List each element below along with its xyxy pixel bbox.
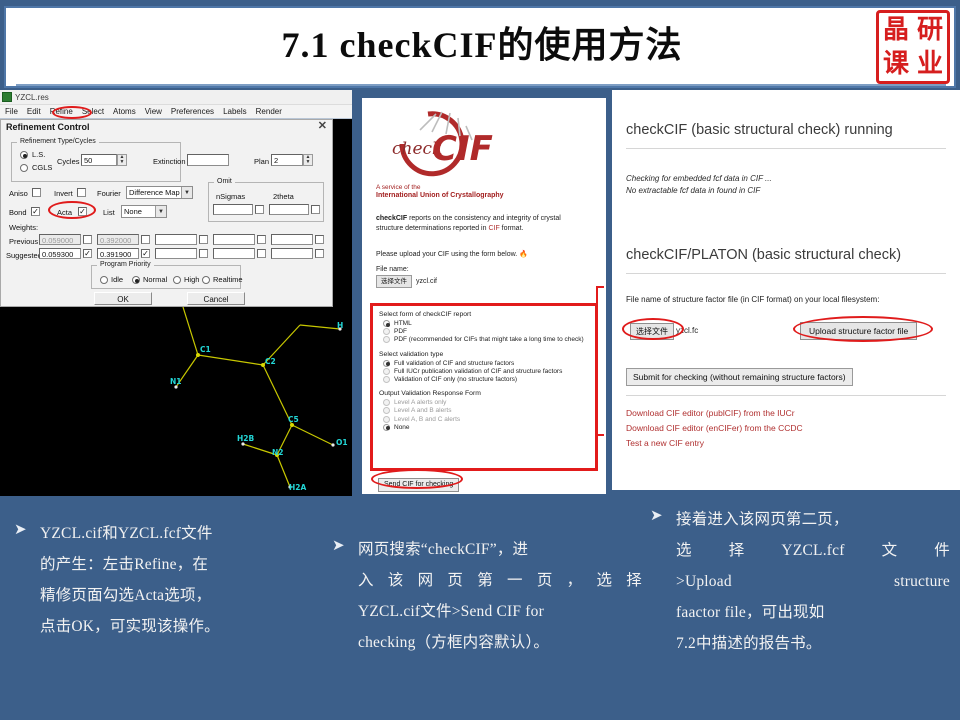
caption-line: 网页搜索“checkCIF”，进 bbox=[358, 534, 642, 565]
radio-icon[interactable] bbox=[383, 336, 390, 343]
refinement-type-legend: Refinement Type/Cycles bbox=[17, 138, 99, 145]
option-full-validation[interactable]: Full validation of CIF and structure fac… bbox=[383, 360, 595, 367]
response-form-heading: Output Validation Response Form bbox=[379, 390, 595, 397]
svg-text:H: H bbox=[337, 321, 343, 330]
title-divider bbox=[16, 84, 946, 86]
running-heading: checkCIF (basic structural check) runnin… bbox=[626, 122, 893, 138]
option-level-a[interactable]: Level A alerts only bbox=[383, 399, 595, 406]
label-fourier: Fourier bbox=[97, 189, 121, 198]
suggested-weight-2[interactable]: 0.391900 bbox=[97, 248, 139, 259]
close-icon[interactable]: ✕ bbox=[318, 121, 327, 132]
previous-check-2[interactable] bbox=[141, 235, 150, 244]
acta-checkbox[interactable]: ✓ bbox=[78, 207, 87, 216]
caption-2: ➤ 网页搜索“checkCIF”，进 入该网页第一页，选择 YZCL.cif文件… bbox=[332, 534, 642, 658]
service-line-1: A service of the bbox=[376, 184, 420, 191]
bullet-icon: ➤ bbox=[650, 506, 663, 525]
plan-input[interactable]: 2 bbox=[271, 154, 303, 166]
file-chooser-row: 选择文件 yzcl.cif bbox=[376, 275, 437, 288]
file-name-label: File name: bbox=[376, 265, 409, 275]
menu-preferences[interactable]: Preferences bbox=[171, 107, 214, 116]
platon-heading: checkCIF/PLATON (basic structural check) bbox=[626, 247, 901, 263]
caption-1: ➤ YZCL.cif和YZCL.fcf文件 的产生：左击Refine，在 精修页… bbox=[14, 518, 324, 642]
options-inner: Select form of checkCIF report HTML PDF … bbox=[379, 311, 595, 432]
svg-text:N1: N1 bbox=[170, 377, 182, 386]
label-weights: Weights: bbox=[9, 223, 38, 232]
previous-check-1[interactable] bbox=[83, 235, 92, 244]
shelxle-window: YZCL.res File Edit Refine Select Atoms V… bbox=[0, 90, 352, 496]
label-ls: L.S. bbox=[32, 150, 45, 159]
cancel-button[interactable]: Cancel bbox=[187, 292, 245, 305]
omit-group: Omit bbox=[208, 182, 324, 222]
invert-checkbox[interactable] bbox=[77, 188, 86, 197]
label-bond: Bond bbox=[9, 208, 27, 217]
option-cif-only[interactable]: Validation of CIF only (no structure fac… bbox=[383, 376, 595, 383]
fourier-select[interactable]: Difference Map ▼ bbox=[126, 186, 193, 199]
report-form-heading: Select form of checkCIF report bbox=[379, 311, 595, 318]
seal-char-3: 课 bbox=[879, 47, 913, 81]
checkcif-page2: checkCIF (basic structural check) runnin… bbox=[612, 90, 960, 490]
choose-file-button[interactable]: 选择文件 bbox=[630, 323, 674, 340]
extinction-input[interactable] bbox=[187, 154, 229, 166]
radio-icon[interactable] bbox=[383, 424, 390, 431]
previous-weight-3[interactable] bbox=[155, 234, 197, 245]
caption-line: 入该网页第一页，选择 bbox=[358, 565, 642, 596]
radio-icon[interactable] bbox=[383, 320, 390, 327]
caption-line: YZCL.cif和YZCL.fcf文件 bbox=[40, 518, 324, 549]
option-label: Full validation of CIF and structure fac… bbox=[394, 360, 514, 367]
divider bbox=[626, 148, 946, 149]
dialog-title: Refinement Control ✕ bbox=[1, 120, 332, 136]
label-2theta: 2theta bbox=[273, 192, 294, 201]
label-list: List bbox=[103, 208, 115, 217]
priority-legend: Program Priority bbox=[97, 261, 154, 268]
structure-factor-label: File name of structure factor file (in C… bbox=[626, 295, 879, 304]
menu-edit[interactable]: Edit bbox=[27, 107, 41, 116]
option-pdf[interactable]: PDF bbox=[383, 328, 595, 335]
window-title: YZCL.res bbox=[15, 93, 49, 102]
previous-weight-1[interactable]: 0.059000 bbox=[39, 234, 81, 245]
2theta-checkbox[interactable] bbox=[311, 205, 320, 214]
caption-line: checking（方框内容默认）。 bbox=[358, 627, 642, 658]
test-new-cif-link[interactable]: Test a new CIF entry bbox=[626, 438, 704, 448]
chevron-down-icon[interactable]: ▼ bbox=[181, 187, 192, 198]
choose-file-button[interactable]: 选择文件 bbox=[376, 275, 412, 288]
radio-icon[interactable] bbox=[383, 399, 390, 406]
molecule-viewport[interactable]: C1 C2 N1 H C5 O1 N2 H2B H2A bbox=[0, 307, 352, 496]
menu-bar: File Edit Refine Select Atoms View Prefe… bbox=[0, 105, 352, 119]
menu-select[interactable]: Select bbox=[82, 107, 104, 116]
label-plan: Plan bbox=[254, 157, 269, 166]
caption-line: faactor file，可出现如 bbox=[676, 597, 950, 628]
label-suggested: Suggested bbox=[6, 251, 42, 260]
fourier-value: Difference Map bbox=[129, 188, 180, 197]
option-label: Level A, B and C alerts bbox=[394, 416, 460, 423]
option-label: None bbox=[394, 424, 410, 431]
caption-line: 选择YZCL.fcf文件 bbox=[676, 535, 950, 566]
previous-weight-5[interactable] bbox=[271, 234, 313, 245]
suggested-weight-3[interactable] bbox=[155, 248, 197, 259]
upload-note: Please upload your CIF using the form be… bbox=[376, 250, 588, 260]
checkcif-logo: check CIF bbox=[380, 104, 500, 178]
status-line-2: No extractable fcf data in found in CIF bbox=[626, 186, 760, 195]
publcif-download-link[interactable]: Download CIF editor (publCIF) from the I… bbox=[626, 408, 795, 418]
radio-icon[interactable] bbox=[383, 360, 390, 367]
encifer-download-link[interactable]: Download CIF editor (enCIFer) from the C… bbox=[626, 423, 803, 433]
upload-structure-factor-button[interactable]: Upload structure factor file bbox=[800, 322, 917, 340]
option-pdf-long[interactable]: PDF (recommended for CIFs that might tak… bbox=[383, 336, 595, 343]
menu-atoms[interactable]: Atoms bbox=[113, 107, 136, 116]
label-idle: Idle bbox=[111, 275, 123, 284]
suggested-check-4[interactable] bbox=[257, 249, 266, 258]
radio-cgls[interactable] bbox=[20, 164, 28, 172]
screenshot-row: YZCL.res File Edit Refine Select Atoms V… bbox=[0, 90, 960, 496]
label-extinction: Extinction bbox=[153, 157, 186, 166]
label-aniso: Aniso bbox=[9, 189, 28, 198]
svg-text:H2A: H2A bbox=[289, 483, 306, 492]
aniso-checkbox[interactable] bbox=[32, 188, 41, 197]
window-titlebar: YZCL.res bbox=[0, 90, 352, 105]
title-frame: 7.1 checkCIF的使用方法 bbox=[4, 6, 956, 88]
suggested-weight-4[interactable] bbox=[213, 248, 255, 259]
svg-text:CIF: CIF bbox=[432, 129, 493, 169]
divider bbox=[626, 395, 946, 396]
menu-file[interactable]: File bbox=[5, 107, 18, 116]
seal-char-4: 业 bbox=[913, 47, 947, 81]
radio-icon[interactable] bbox=[383, 328, 390, 335]
option-level-abc[interactable]: Level A, B and C alerts bbox=[383, 416, 595, 423]
radio-realtime[interactable] bbox=[202, 276, 210, 284]
radio-normal[interactable] bbox=[132, 276, 140, 284]
send-cif-button[interactable]: Send CIF for checking bbox=[378, 478, 459, 492]
label-cycles: Cycles bbox=[57, 157, 80, 166]
chosen-file-name: yzcl.fc bbox=[676, 326, 698, 335]
label-realtime: Realtime bbox=[213, 275, 243, 284]
label-previous: Previous bbox=[9, 237, 38, 246]
svg-text:C5: C5 bbox=[288, 415, 299, 424]
menu-refine[interactable]: Refine bbox=[50, 107, 73, 116]
refinement-control-dialog: Refinement Control ✕ Refinement Type/Cyc… bbox=[0, 119, 333, 307]
chosen-file-name: yzcl.cif bbox=[416, 278, 437, 285]
chevron-down-icon[interactable]: ▼ bbox=[155, 206, 166, 217]
previous-weight-4[interactable] bbox=[213, 234, 255, 245]
dialog-title-text: Refinement Control bbox=[6, 122, 90, 132]
suggested-weight-5[interactable] bbox=[271, 248, 313, 259]
option-label: Level A alerts only bbox=[394, 399, 446, 406]
ok-button[interactable]: OK bbox=[94, 292, 152, 305]
omit-legend: Omit bbox=[214, 178, 235, 185]
radio-idle[interactable] bbox=[100, 276, 108, 284]
slide-root: 7.1 checkCIF的使用方法 晶 研 课 业 YZCL.res File … bbox=[0, 0, 960, 720]
option-level-ab[interactable]: Level A and B alerts bbox=[383, 407, 595, 414]
option-none[interactable]: None bbox=[383, 424, 595, 431]
menu-render[interactable]: Render bbox=[256, 107, 282, 116]
caption-line: 点击OK，可实现该操作。 bbox=[40, 611, 324, 642]
label-acta: Acta bbox=[57, 208, 72, 217]
radio-icon[interactable] bbox=[383, 376, 390, 383]
svg-text:C2: C2 bbox=[265, 357, 276, 366]
caption-3-body: 接着进入该网页第二页， 选择YZCL.fcf文件 >Upload structu… bbox=[676, 504, 950, 659]
option-label: PDF bbox=[394, 328, 407, 335]
previous-check-3[interactable] bbox=[199, 235, 208, 244]
menu-view[interactable]: View bbox=[145, 107, 162, 116]
previous-weight-2[interactable]: 0.392000 bbox=[97, 234, 139, 245]
intro-bold: checkCIF bbox=[376, 215, 407, 222]
bullet-icon: ➤ bbox=[332, 536, 345, 555]
previous-check-5[interactable] bbox=[315, 235, 324, 244]
checkcif-options-box: Select form of checkCIF report HTML PDF … bbox=[370, 303, 598, 471]
caption-1-body: YZCL.cif和YZCL.fcf文件 的产生：左击Refine，在 精修页面勾… bbox=[40, 518, 324, 642]
label-nsigmas: nSigmas bbox=[216, 192, 245, 201]
caption-line: >Upload structure bbox=[676, 566, 950, 597]
checkcif-page1: check CIF A service of the International… bbox=[362, 98, 606, 494]
caption-line: 的产生：左击Refine，在 bbox=[40, 549, 324, 580]
radio-icon[interactable] bbox=[383, 407, 390, 414]
caption-line: 精修页面勾选Acta选项， bbox=[40, 580, 324, 611]
option-label: Validation of CIF only (no structure fac… bbox=[394, 376, 517, 383]
cycles-input[interactable]: 50 bbox=[81, 154, 117, 166]
option-html[interactable]: HTML bbox=[383, 320, 595, 327]
suggested-check-2[interactable]: ✓ bbox=[141, 249, 150, 258]
caption-line: 接着进入该网页第二页， bbox=[676, 504, 950, 535]
caption-line: 7.2中描述的报告书。 bbox=[676, 628, 950, 659]
submit-for-checking-button[interactable]: Submit for checking (without remaining s… bbox=[626, 368, 853, 386]
label-cgls: CGLS bbox=[32, 163, 52, 172]
label-high: High bbox=[184, 275, 199, 284]
list-select[interactable]: None ▼ bbox=[121, 205, 167, 218]
suggested-check-3[interactable] bbox=[199, 249, 208, 258]
molecule-icon bbox=[2, 92, 12, 102]
seal-char-1: 晶 bbox=[879, 13, 913, 47]
plan-stepper[interactable]: ▲▼ bbox=[303, 154, 313, 166]
caption-row: ➤ YZCL.cif和YZCL.fcf文件 的产生：左击Refine，在 精修页… bbox=[0, 496, 960, 720]
caption-2-body: 网页搜索“checkCIF”，进 入该网页第一页，选择 YZCL.cif文件>S… bbox=[358, 534, 642, 658]
page-title: 7.1 checkCIF的使用方法 bbox=[6, 16, 958, 68]
option-label: HTML bbox=[394, 320, 412, 327]
option-label: Full IUCr publication validation of CIF … bbox=[394, 368, 562, 375]
molecule-diagram: C1 C2 N1 H C5 O1 N2 H2B H2A bbox=[0, 307, 352, 496]
svg-text:H2B: H2B bbox=[237, 434, 254, 443]
menu-labels[interactable]: Labels bbox=[223, 107, 247, 116]
previous-check-4[interactable] bbox=[257, 235, 266, 244]
option-label: PDF (recommended for CIFs that might tak… bbox=[394, 336, 584, 343]
2theta-input[interactable] bbox=[269, 204, 309, 215]
service-line-2: International Union of Crystallography bbox=[376, 192, 504, 199]
label-normal: Normal bbox=[143, 275, 167, 284]
suggested-weight-1[interactable]: 0.059300 bbox=[39, 248, 81, 259]
radio-high[interactable] bbox=[173, 276, 181, 284]
intro-tail: format. bbox=[500, 225, 524, 232]
radio-icon[interactable] bbox=[383, 368, 390, 375]
title-band: 7.1 checkCIF的使用方法 晶 研 课 业 bbox=[0, 0, 960, 92]
bullet-icon: ➤ bbox=[14, 520, 27, 539]
svg-text:N2: N2 bbox=[272, 448, 284, 457]
caption-3: ➤ 接着进入该网页第二页， 选择YZCL.fcf文件 >Upload struc… bbox=[650, 504, 950, 659]
upload-note-text: Please upload your CIF using the form be… bbox=[376, 251, 517, 258]
list-value: None bbox=[124, 207, 142, 216]
suggested-check-5[interactable] bbox=[315, 249, 324, 258]
svg-text:O1: O1 bbox=[336, 438, 348, 447]
divider bbox=[626, 273, 946, 274]
seal-char-2: 研 bbox=[913, 13, 947, 47]
svg-text:C1: C1 bbox=[200, 345, 211, 354]
bond-checkbox[interactable]: ✓ bbox=[31, 207, 40, 216]
option-iucr-validation[interactable]: Full IUCr publication validation of CIF … bbox=[383, 368, 595, 375]
option-label: Level A and B alerts bbox=[394, 407, 451, 414]
label-invert: Invert bbox=[54, 189, 73, 198]
intro-paragraph: checkCIF reports on the consistency and … bbox=[376, 214, 588, 234]
status-line-1: Checking for embedded fcf data in CIF ..… bbox=[626, 174, 772, 183]
nsigmas-checkbox[interactable] bbox=[255, 205, 264, 214]
radio-ls[interactable] bbox=[20, 151, 28, 159]
validation-type-heading: Select validation type bbox=[379, 351, 595, 358]
caption-line: YZCL.cif文件>Send CIF for bbox=[358, 596, 642, 627]
radio-icon[interactable] bbox=[383, 416, 390, 423]
cycles-stepper[interactable]: ▲▼ bbox=[117, 154, 127, 166]
seal-stamp: 晶 研 课 业 bbox=[876, 10, 950, 84]
nsigmas-input[interactable] bbox=[213, 204, 253, 215]
flame-icon: 🔥 bbox=[519, 251, 528, 258]
cif-link[interactable]: CIF bbox=[488, 225, 499, 232]
suggested-check-1[interactable]: ✓ bbox=[83, 249, 92, 258]
